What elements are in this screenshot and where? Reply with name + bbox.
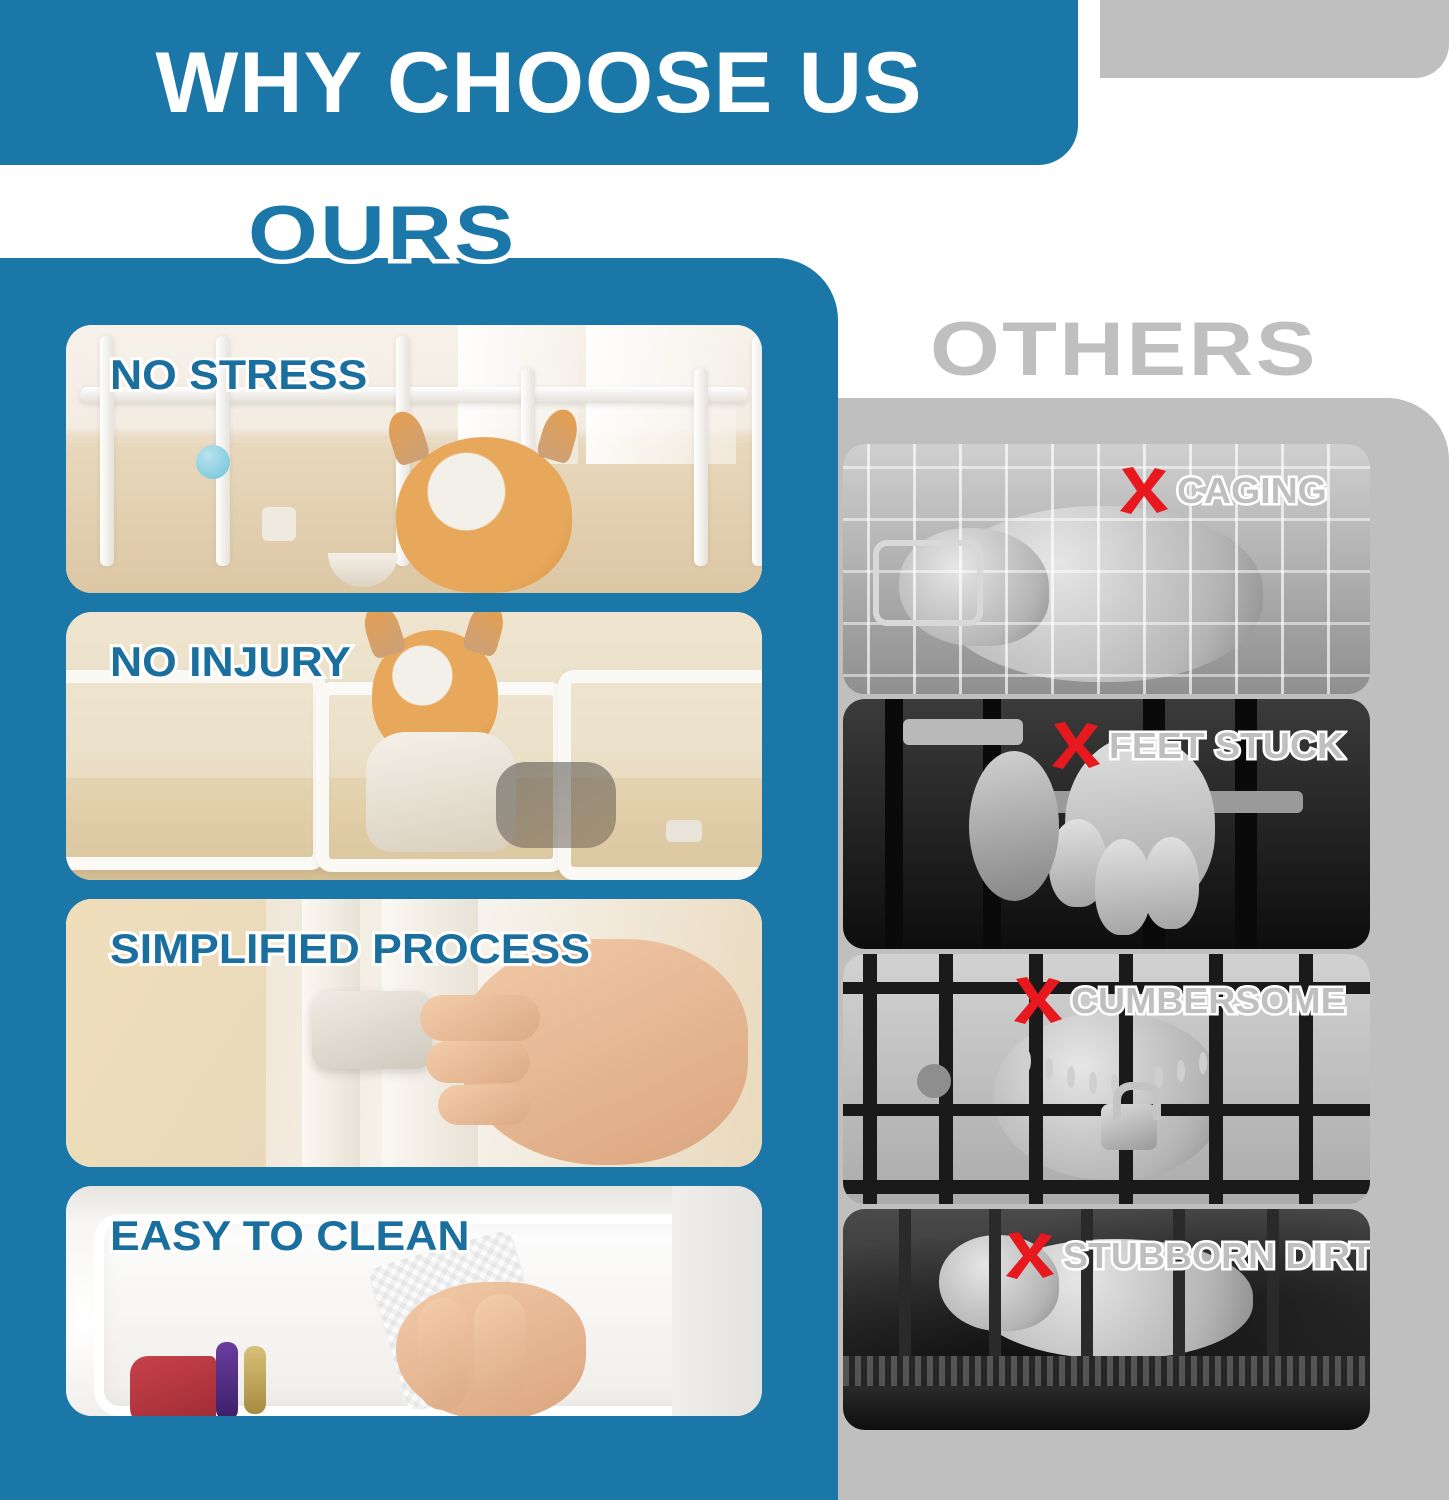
- red-x-icon: [1011, 976, 1065, 1026]
- red-x-icon: [1003, 1231, 1057, 1281]
- comparison-infographic: WHY CHOOSE US OURS OTHERS NO STRESS: [0, 0, 1449, 1500]
- others-card-caging: CAGING: [843, 444, 1370, 694]
- others-card-label: FEET STUCK: [1109, 725, 1344, 767]
- ours-card-label: SIMPLIFIED PROCESS: [110, 925, 590, 973]
- others-card-feet-stuck: FEET STUCK: [843, 699, 1370, 949]
- others-card-cumbersome: CUMBERSOME: [843, 954, 1370, 1204]
- header-banner: WHY CHOOSE US: [0, 0, 1078, 165]
- others-card-stubborn-dirt: STUBBORN DIRT: [843, 1209, 1370, 1430]
- page-title: WHY CHOOSE US: [155, 40, 922, 126]
- red-x-icon: [1117, 466, 1171, 516]
- others-card-label: STUBBORN DIRT: [1063, 1235, 1370, 1277]
- others-card-label: CAGING: [1177, 470, 1327, 512]
- ours-card-label: NO INJURY: [110, 638, 351, 686]
- ours-card-easy-to-clean: EASY TO CLEAN: [66, 1186, 762, 1416]
- top-right-grey-accent: [1100, 0, 1449, 78]
- others-card-label-row: CAGING: [1117, 466, 1321, 516]
- ours-heading: OURS: [248, 196, 517, 272]
- ours-card-no-stress: NO STRESS: [66, 325, 762, 593]
- ours-card-label: NO STRESS: [110, 351, 367, 399]
- ours-card-simplified-process: SIMPLIFIED PROCESS: [66, 899, 762, 1167]
- ours-card-label: EASY TO CLEAN: [110, 1212, 470, 1260]
- others-card-label-row: STUBBORN DIRT: [1003, 1231, 1361, 1281]
- red-x-icon: [1049, 721, 1103, 771]
- others-card-label: CUMBERSOME: [1071, 980, 1346, 1022]
- others-heading: OTHERS: [930, 312, 1318, 388]
- ours-card-no-injury: NO INJURY: [66, 612, 762, 880]
- others-card-label-row: FEET STUCK: [1049, 721, 1335, 771]
- others-card-label-row: CUMBERSOME: [1011, 976, 1335, 1026]
